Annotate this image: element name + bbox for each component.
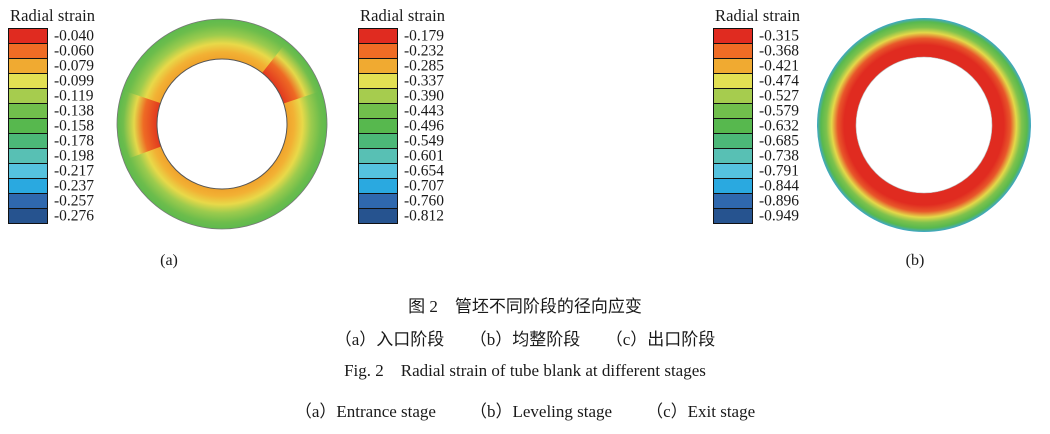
colorbar-swatch-a-8 [9,149,47,164]
colorbar-swatch-b-11 [359,194,397,209]
colorbar-swatch-b-8 [359,149,397,164]
colorbar-tick-c-4: -0.527 [759,88,799,103]
colorbar-tick-c-3: -0.474 [759,73,799,88]
panel-leveling-stage: Radial strain -0.179-0.232-0.285-0.337-0… [350,0,705,285]
colorbar-swatch-b-3 [359,74,397,89]
colorbar-swatches-c [713,28,753,224]
colorbar-tick-a-4: -0.119 [54,88,93,103]
colorbar-tick-a-6: -0.158 [54,119,94,134]
colorbar-tick-b-11: -0.760 [404,194,444,209]
colorbar-tick-a-2: -0.079 [54,58,94,73]
colorbar-swatch-c-4 [714,89,752,104]
colorbar-tick-c-9: -0.791 [759,164,799,179]
colorbar-swatch-a-4 [9,89,47,104]
colorbar-legend-a: Radial strain -0.040-0.060-0.079-0.099-0… [8,6,133,224]
colorbar-swatch-b-5 [359,104,397,119]
legend-title-a: Radial strain [10,6,133,25]
colorbar-swatch-c-12 [714,209,752,223]
colorbar-tick-b-10: -0.707 [404,179,444,194]
colorbar-swatch-c-9 [714,164,752,179]
colorbar-tick-c-7: -0.685 [759,134,799,149]
colorbar-tick-a-12: -0.276 [54,209,94,224]
colorbar-swatch-a-6 [9,119,47,134]
colorbar-swatch-a-3 [9,74,47,89]
colorbar-swatch-a-1 [9,44,47,59]
colorbar-swatch-b-7 [359,134,397,149]
colorbar-ticks-b: -0.179-0.232-0.285-0.337-0.390-0.443-0.4… [400,28,482,224]
colorbar-tick-b-2: -0.285 [404,58,444,73]
colorbar-swatch-c-7 [714,134,752,149]
sublabel-a: (a) [139,252,199,270]
colorbar-swatch-c-0 [714,29,752,44]
caption-chinese-subtitles: （a）入口阶段 （b）均整阶段 （c）出口阶段 [0,325,1050,350]
caption-english-subtitles: （a）Entrance stage （b）Leveling stage （c）E… [0,397,1050,422]
colorbar-legend-c: Radial strain -0.315-0.368-0.421-0.474-0… [713,6,838,224]
colorbar-tick-c-12: -0.949 [759,209,799,224]
colorbar-swatch-c-10 [714,179,752,194]
colorbar-swatch-a-10 [9,179,47,194]
colorbar-tick-a-10: -0.237 [54,179,94,194]
colorbar-tick-b-7: -0.549 [404,134,444,149]
colorbar-swatches-a [8,28,48,224]
colorbar-tick-b-3: -0.337 [404,73,444,88]
colorbar-ticks-c: -0.315-0.368-0.421-0.474-0.527-0.579-0.6… [755,28,837,224]
colorbar-swatch-a-2 [9,59,47,74]
colorbar-swatch-c-5 [714,104,752,119]
colorbar-swatch-b-4 [359,89,397,104]
colorbar-swatch-b-9 [359,164,397,179]
colorbar-tick-c-8: -0.738 [759,149,799,164]
colorbar-tick-c-2: -0.421 [759,58,799,73]
colorbar-tick-a-11: -0.257 [54,194,94,209]
colorbar-tick-c-11: -0.896 [759,194,799,209]
legend-title-b: Radial strain [360,6,483,25]
colorbar-swatch-b-0 [359,29,397,44]
colorbar-swatch-b-6 [359,119,397,134]
colorbar-swatch-b-1 [359,44,397,59]
colorbar-tick-a-7: -0.178 [54,134,94,149]
panel-entrance-stage: Radial strain -0.040-0.060-0.079-0.099-0… [0,0,350,285]
colorbar-tick-a-1: -0.060 [54,43,94,58]
colorbar-tick-c-1: -0.368 [759,43,799,58]
colorbar-tick-b-0: -0.179 [404,28,444,43]
colorbar-swatch-a-9 [9,164,47,179]
colorbar-tick-b-4: -0.390 [404,88,444,103]
colorbar-tick-a-0: -0.040 [54,28,94,43]
colorbar-tick-a-3: -0.099 [54,73,94,88]
caption-chinese-title: 图 2 管坯不同阶段的径向应变 [0,292,1050,317]
colorbar-legend-b: Radial strain -0.179-0.232-0.285-0.337-0… [358,6,483,224]
colorbar-swatch-b-12 [359,209,397,223]
colorbar-tick-a-5: -0.138 [54,103,94,118]
colorbar-swatch-c-3 [714,74,752,89]
colorbar-swatch-a-12 [9,209,47,223]
caption-english-title: Fig. 2 Radial strain of tube blank at di… [0,361,1050,381]
colorbar-tick-a-9: -0.217 [54,164,94,179]
colorbar-tick-a-8: -0.198 [54,149,94,164]
colorbar-tick-b-6: -0.496 [404,119,444,134]
panel-exit-stage: Radial strain -0.315-0.368-0.421-0.474-0… [705,0,1050,285]
colorbar-swatch-c-1 [714,44,752,59]
colorbar-tick-c-6: -0.632 [759,119,799,134]
colorbar-swatch-a-0 [9,29,47,44]
colorbar-tick-b-12: -0.812 [404,209,444,224]
colorbar-tick-b-9: -0.654 [404,164,444,179]
colorbar-swatch-c-11 [714,194,752,209]
colorbar-swatch-c-8 [714,149,752,164]
colorbar-swatch-a-11 [9,194,47,209]
colorbar-swatch-b-10 [359,179,397,194]
colorbar-swatch-c-6 [714,119,752,134]
colorbar-swatch-a-7 [9,134,47,149]
colorbar-tick-b-5: -0.443 [404,103,444,118]
colorbar-swatch-c-2 [714,59,752,74]
tube-cross-section-a [116,18,328,230]
colorbar-tick-c-10: -0.844 [759,179,799,194]
colorbar-tick-c-5: -0.579 [759,103,799,118]
colorbar-swatch-b-2 [359,59,397,74]
colorbar-swatches-b [358,28,398,224]
figure-radial-strain: Radial strain -0.040-0.060-0.079-0.099-0… [0,0,1050,434]
legend-title-c: Radial strain [715,6,838,25]
colorbar-swatch-a-5 [9,104,47,119]
colorbar-tick-b-8: -0.601 [404,149,444,164]
colorbar-tick-c-0: -0.315 [759,28,799,43]
colorbar-tick-b-1: -0.232 [404,43,444,58]
